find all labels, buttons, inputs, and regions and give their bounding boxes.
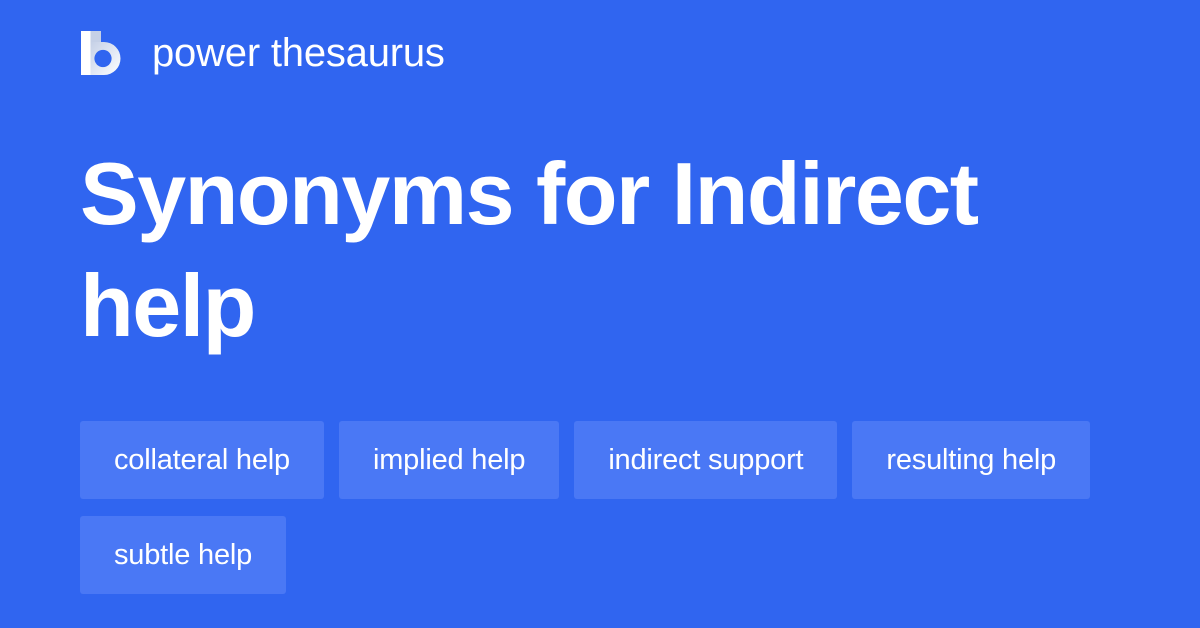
logo-svg bbox=[78, 28, 128, 78]
synonym-chip[interactable]: implied help bbox=[339, 421, 559, 499]
synonym-chip[interactable]: resulting help bbox=[852, 421, 1090, 499]
page-title: Synonyms for Indirect help bbox=[80, 138, 1080, 362]
synonym-chip-list: collateral help implied help indirect su… bbox=[80, 421, 1120, 594]
brand-name: power thesaurus bbox=[152, 33, 445, 73]
power-thesaurus-b-logo-icon bbox=[78, 28, 128, 78]
synonym-chip[interactable]: indirect support bbox=[574, 421, 837, 499]
synonym-chip[interactable]: subtle help bbox=[80, 516, 286, 594]
synonym-chip[interactable]: collateral help bbox=[80, 421, 324, 499]
brand-header[interactable]: power thesaurus bbox=[78, 28, 445, 78]
